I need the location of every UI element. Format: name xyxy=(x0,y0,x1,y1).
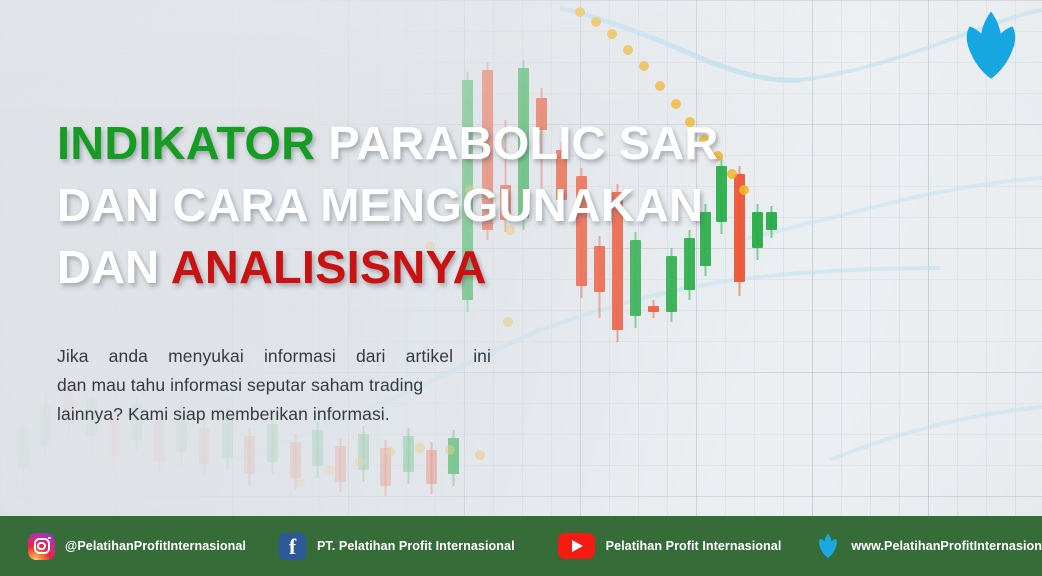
headline-word-indikator: INDIKATOR xyxy=(57,117,315,169)
social-footer-bar: @PelatihanProfitInternasional f PT. Pela… xyxy=(0,516,1042,576)
footer-item-instagram[interactable]: @PelatihanProfitInternasional xyxy=(28,516,246,576)
lotus-leaf-icon xyxy=(813,531,843,561)
promo-banner: INDIKATOR PARABOLIC SAR DAN CARA MENGGUN… xyxy=(0,0,1042,576)
footer-item-facebook[interactable]: f PT. Pelatihan Profit Internasional xyxy=(279,516,515,576)
youtube-channel-label: Pelatihan Profit Internasional xyxy=(606,539,782,553)
headline-line-3: DAN ANALISISNYA xyxy=(57,236,751,298)
headline-line-2-text: DAN CARA MENGGUNAKAN xyxy=(57,179,703,231)
facebook-page-label: PT. Pelatihan Profit Internasional xyxy=(317,539,515,553)
headline-line-2: DAN CARA MENGGUNAKAN xyxy=(57,174,751,236)
subtitle-line-2: dan mau tahu informasi seputar saham tra… xyxy=(57,371,491,400)
subtitle-line-3: lainnya? Kami siap memberikan informasi. xyxy=(57,400,491,429)
headline-word-dan: DAN xyxy=(57,241,159,293)
footer-item-youtube[interactable]: Pelatihan Profit Internasional xyxy=(558,516,782,576)
facebook-icon: f xyxy=(279,533,306,560)
headline: INDIKATOR PARABOLIC SAR DAN CARA MENGGUN… xyxy=(57,112,737,298)
headline-word-parabolic-sar: PARABOLIC SAR xyxy=(328,117,718,169)
headline-line-1: INDIKATOR PARABOLIC SAR xyxy=(57,112,751,174)
subtitle: Jika anda menyukai informasi dari artike… xyxy=(57,342,491,429)
subtitle-line-1: Jika anda menyukai informasi dari artike… xyxy=(57,342,491,371)
footer-item-website[interactable]: www.PelatihanProfitInternasional.com xyxy=(813,516,1042,576)
headline-word-analisisnya: ANALISISNYA xyxy=(171,241,487,293)
instagram-handle-label: @PelatihanProfitInternasional xyxy=(65,539,246,553)
instagram-icon xyxy=(28,533,55,560)
lotus-leaf-logo xyxy=(950,4,1032,88)
website-url-label: www.PelatihanProfitInternasional.com xyxy=(851,539,1042,553)
youtube-icon xyxy=(558,533,595,559)
